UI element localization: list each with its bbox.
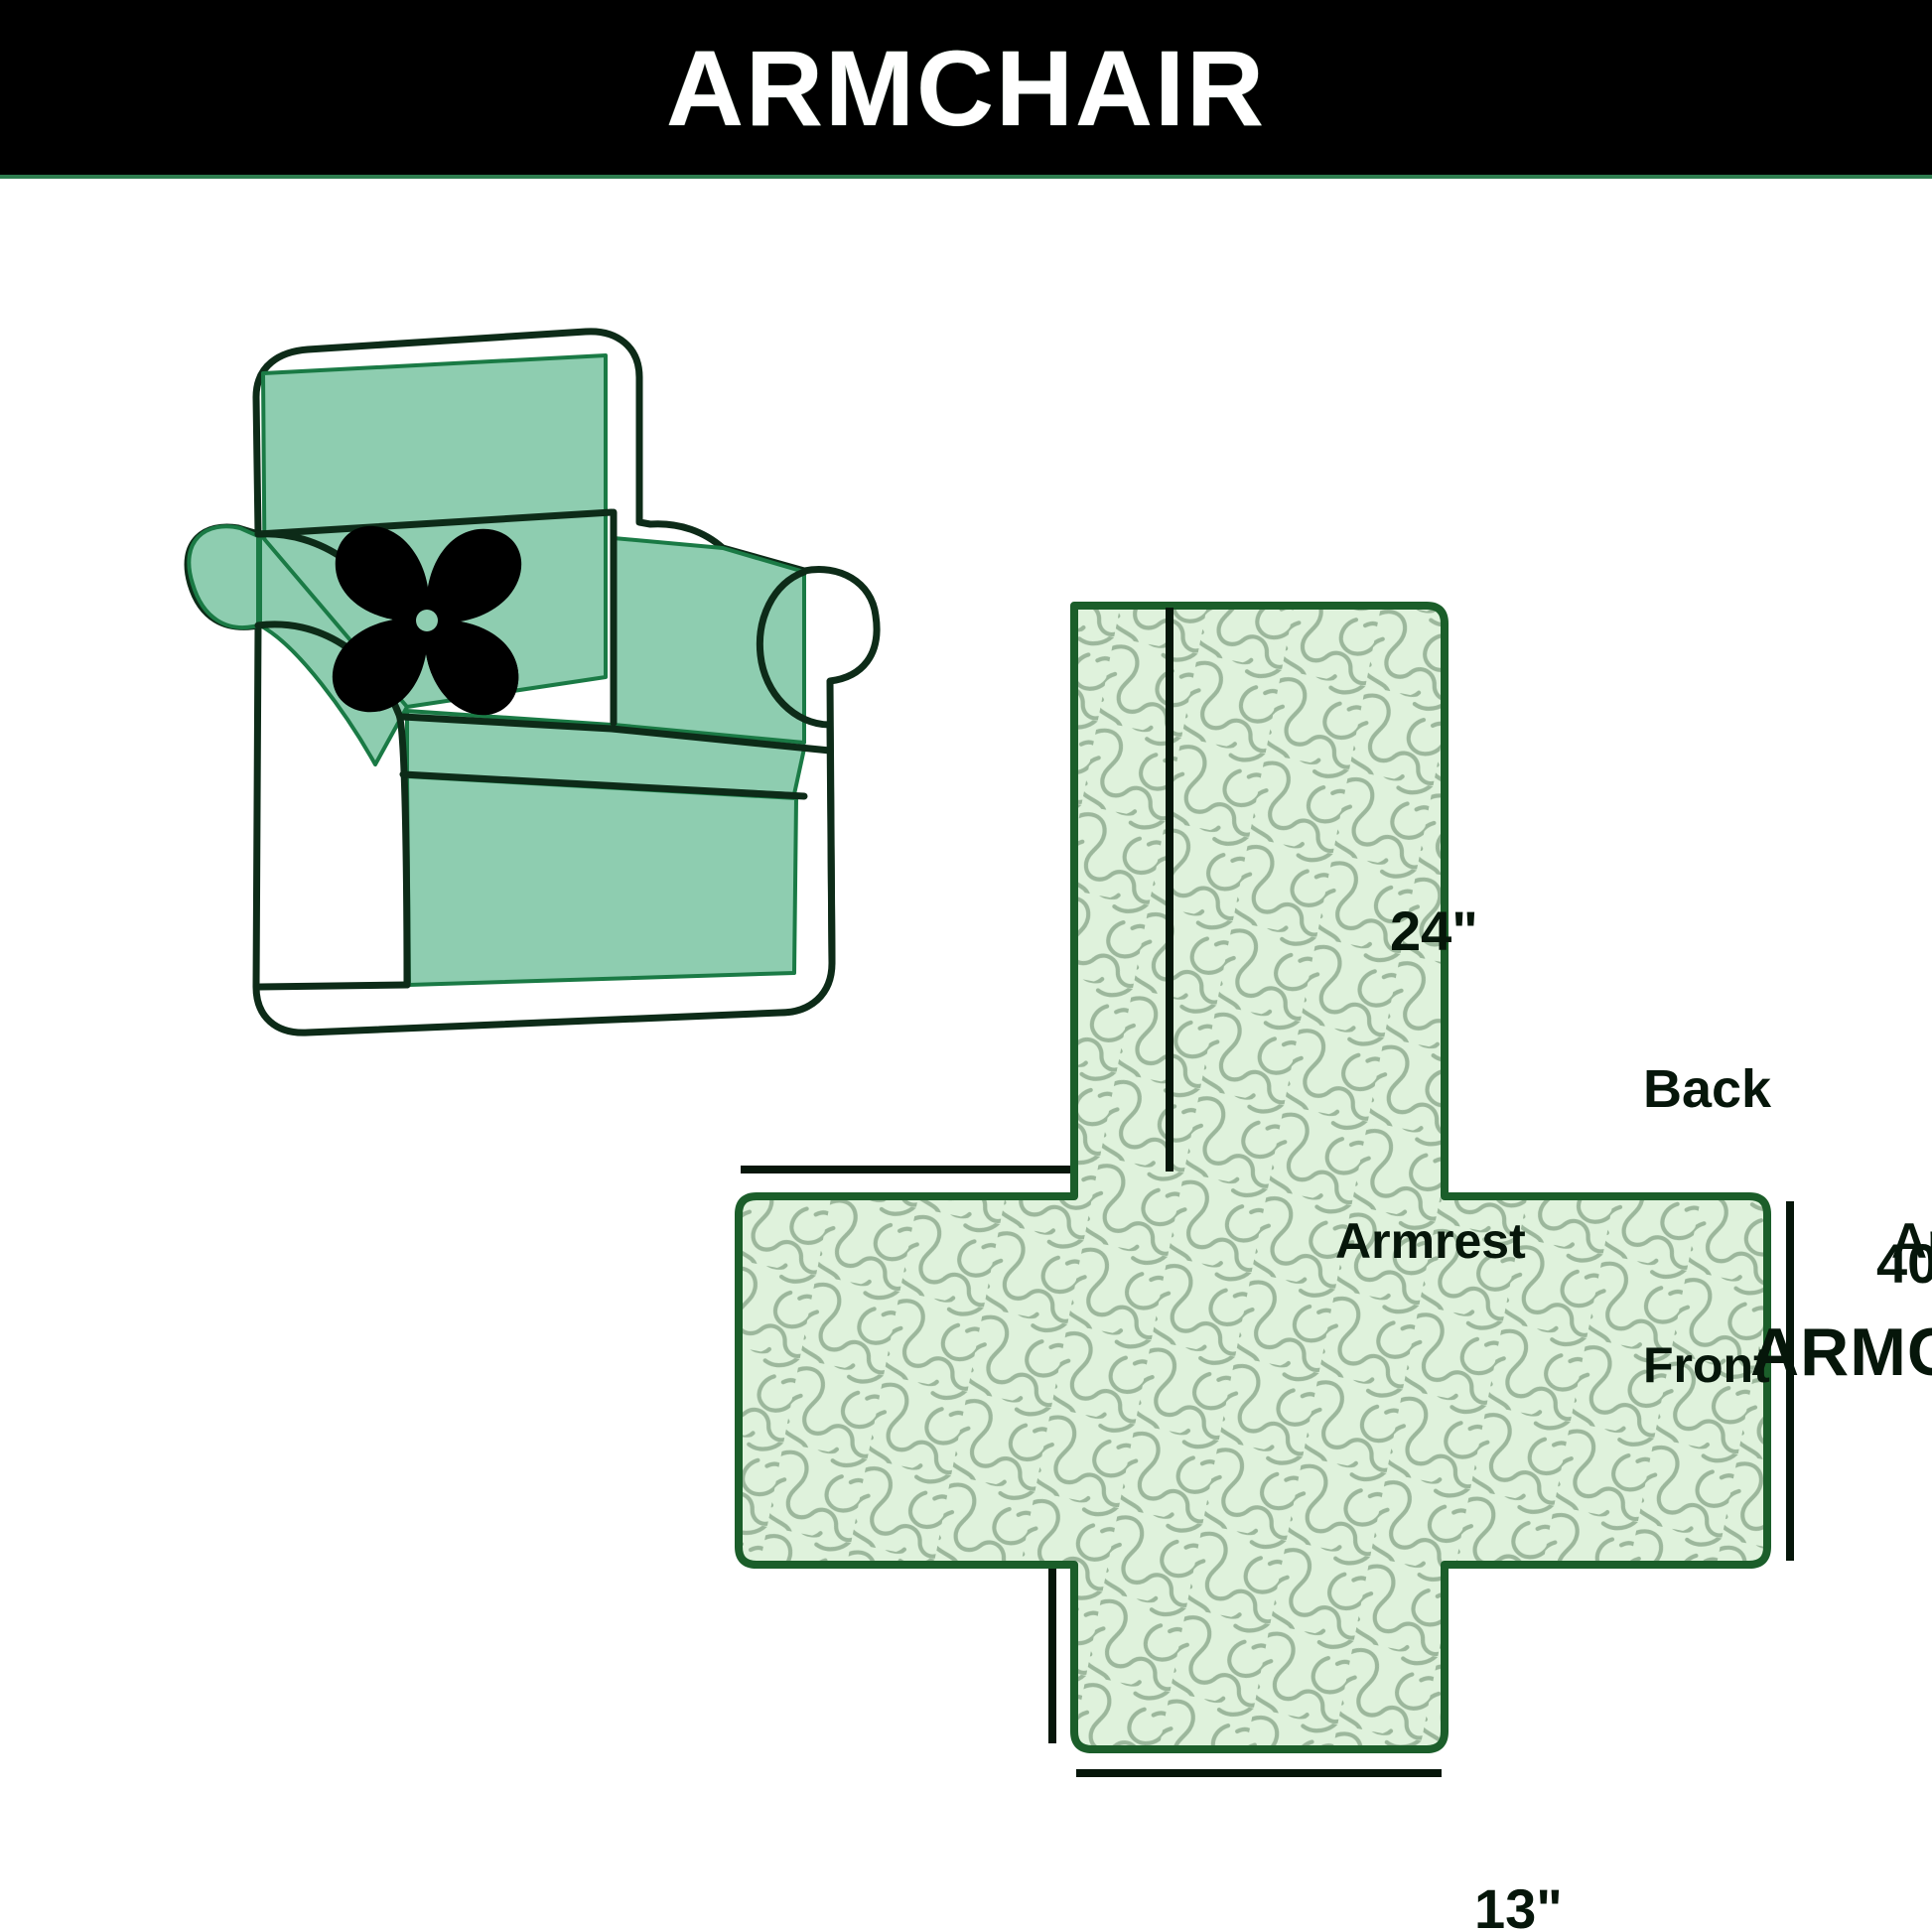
- page-root: ARMCHAIR: [0, 0, 1932, 1932]
- dimension-label-armrest-width: 24": [1390, 903, 1478, 959]
- panel-label-center: ARMCHAIR: [1750, 1318, 1932, 1386]
- cover-diagram: Back ARMCHAIR Armrest Armrest Front 40" …: [695, 556, 1866, 1837]
- header-divider: [0, 175, 1932, 179]
- panel-label-back: Back: [1643, 1062, 1771, 1116]
- header-banner: ARMCHAIR: [0, 0, 1932, 177]
- panel-label-front: Front: [1643, 1340, 1770, 1390]
- cover-outline: [739, 606, 1767, 1749]
- dimension-label-front-height: 13": [1474, 1881, 1563, 1932]
- dimension-label-back-height: 40": [1876, 1236, 1932, 1292]
- panel-label-armrest-left: Armrest: [1335, 1216, 1526, 1266]
- page-title: ARMCHAIR: [666, 35, 1266, 142]
